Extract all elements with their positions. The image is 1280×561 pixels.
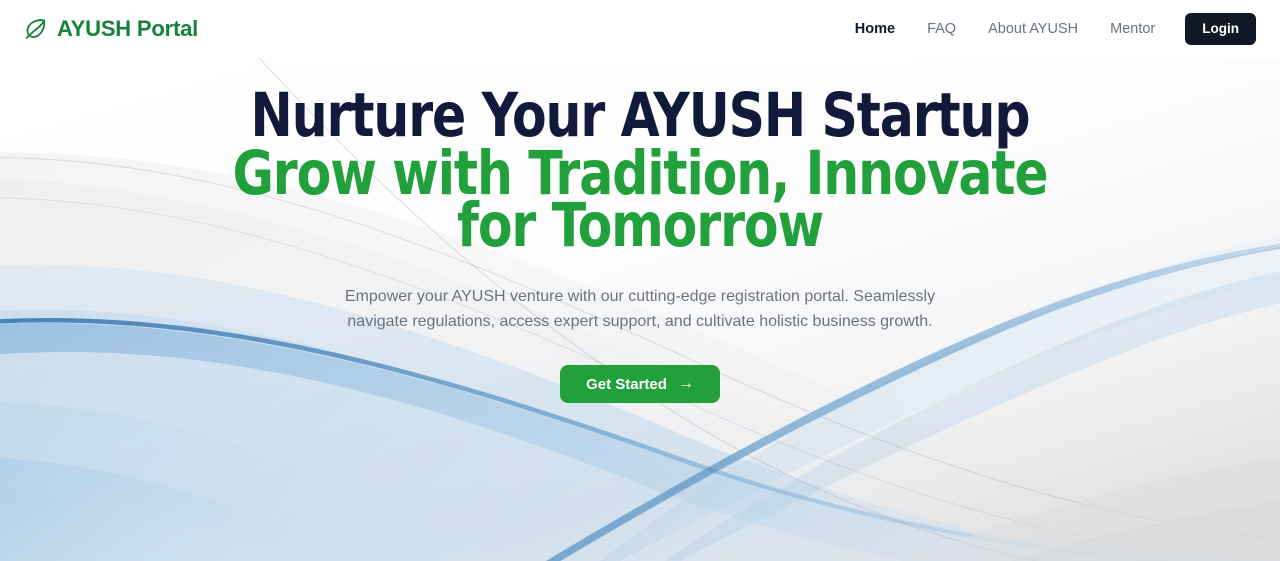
hero-title: Nurture Your AYUSH Startup Grow with Tra…: [226, 90, 1054, 252]
hero-cta-wrapper: Get Started →: [560, 365, 720, 403]
nav-item-home[interactable]: Home: [839, 15, 911, 43]
brand-logo[interactable]: AYUSH Portal: [22, 16, 198, 42]
hero-subtitle: Empower your AYUSH venture with our cutt…: [320, 284, 960, 334]
nav-item-about-ayush[interactable]: About AYUSH: [972, 15, 1094, 43]
site-header: AYUSH Portal Home FAQ About AYUSH Mentor…: [0, 0, 1280, 58]
arrow-right-icon: →: [678, 376, 694, 392]
get-started-label: Get Started: [586, 377, 667, 392]
login-button[interactable]: Login: [1185, 13, 1256, 45]
hero-title-line-2: Grow with Tradition, Innovate for Tomorr…: [226, 148, 1054, 252]
hero-section: Nurture Your AYUSH Startup Grow with Tra…: [0, 58, 1280, 561]
brand-name: AYUSH Portal: [57, 16, 198, 42]
nav-item-faq[interactable]: FAQ: [911, 15, 972, 43]
leaf-icon: [22, 16, 48, 42]
main-nav: Home FAQ About AYUSH Mentor Login: [839, 13, 1256, 45]
get-started-button[interactable]: Get Started →: [560, 365, 720, 403]
hero-content: Nurture Your AYUSH Startup Grow with Tra…: [0, 58, 1280, 561]
page-root: AYUSH Portal Home FAQ About AYUSH Mentor…: [0, 0, 1280, 561]
nav-item-mentor[interactable]: Mentor: [1094, 15, 1171, 43]
